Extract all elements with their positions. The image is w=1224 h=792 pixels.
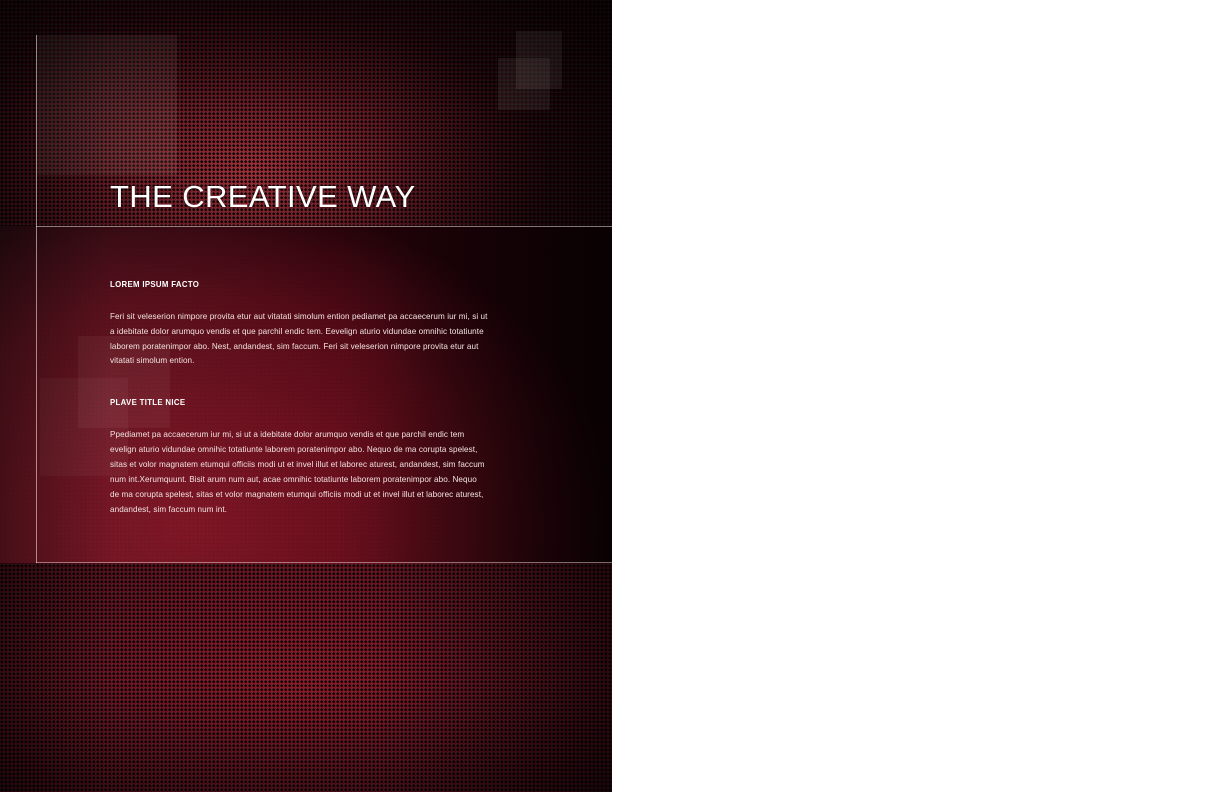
section-1-body: Feri sit veleserion nimpore provita etur… — [110, 309, 488, 368]
section-2-subhead: PLAVE TITLE NICE — [110, 396, 469, 408]
frame-line-horizontal-top — [36, 226, 612, 227]
frame-line-horizontal-bottom — [36, 562, 612, 563]
section-1-subhead: LOREM IPSUM FACTO — [110, 278, 469, 290]
content-section-1: LOREM IPSUM FACTO Feri sit veleserion ni… — [110, 278, 500, 368]
slide-canvas: THE CREATIVE WAY LOREM IPSUM FACTO Feri … — [0, 0, 612, 792]
frame-line-vertical — [36, 35, 37, 563]
content-section-2: PLAVE TITLE NICE Ppediamet pa accaecerum… — [110, 396, 500, 516]
section-2-body: Ppediamet pa accaecerum iur mi, si ut a … — [110, 427, 488, 516]
slide-title: THE CREATIVE WAY — [110, 178, 416, 216]
